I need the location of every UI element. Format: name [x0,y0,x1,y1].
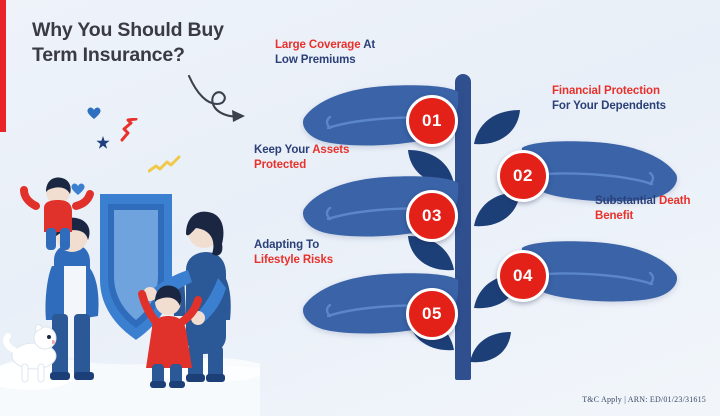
callout-04-line2-red: Benefit [595,210,633,222]
small-leaf-right-4 [468,330,514,366]
callout-04-line1-red: Death [659,195,690,207]
callout-03-line1-navy: Keep Your [254,144,312,156]
callout-label-05: Adapting To Lifestyle Risks [254,238,333,267]
left-accent-bar [0,0,6,132]
callout-label-02: Financial Protection For Your Dependents [552,84,666,113]
family-with-shield-illustration [0,170,260,416]
navy-star-icon [96,136,110,150]
curly-arrow-icon [183,72,263,134]
footer-disclaimer: T&C Apply | ARN: ED/01/23/31615 [582,395,706,404]
badge-04-number: 04 [513,266,533,286]
callout-01-line1-red: Large Coverage [275,39,361,51]
page-title: Why You Should Buy Term Insurance? [32,18,262,68]
badge-04[interactable]: 04 [497,250,549,302]
callout-label-01: Large Coverage At Low Premiums [275,38,375,67]
callout-05-line1-navy: Adapting To [254,239,319,251]
badge-02-number: 02 [513,166,533,186]
callout-02-line2-navy: For Your Dependents [552,100,666,112]
callout-label-04: Substantial Death Benefit [595,194,690,223]
badge-05[interactable]: 05 [406,288,458,340]
blue-heart-icon [86,106,102,120]
callout-01-line2-navy: Low Premiums [275,54,356,66]
badge-03-number: 03 [422,206,442,226]
badge-03[interactable]: 03 [406,190,458,242]
page-title-line2: Term Insurance? [32,43,262,68]
page-title-line1: Why You Should Buy [32,18,262,43]
callout-label-03: Keep Your Assets Protected [254,143,349,172]
red-zigzag-icon [120,118,146,142]
badge-01-number: 01 [422,111,442,131]
badge-01[interactable]: 01 [406,95,458,147]
callout-03-line1-red: Assets [312,144,349,156]
callout-02-line1-red: Financial Protection [552,85,660,97]
badge-05-number: 05 [422,304,442,324]
callout-05-line2-red: Lifestyle Risks [254,254,333,266]
badge-02[interactable]: 02 [497,150,549,202]
callout-01-line1-navy: At [361,39,376,51]
small-leaf-right-1 [472,108,524,148]
callout-03-line2-red: Protected [254,159,306,171]
infographic-canvas: Why You Should Buy Term Insurance? [0,0,720,416]
callout-04-line1-navy: Substantial [595,195,659,207]
